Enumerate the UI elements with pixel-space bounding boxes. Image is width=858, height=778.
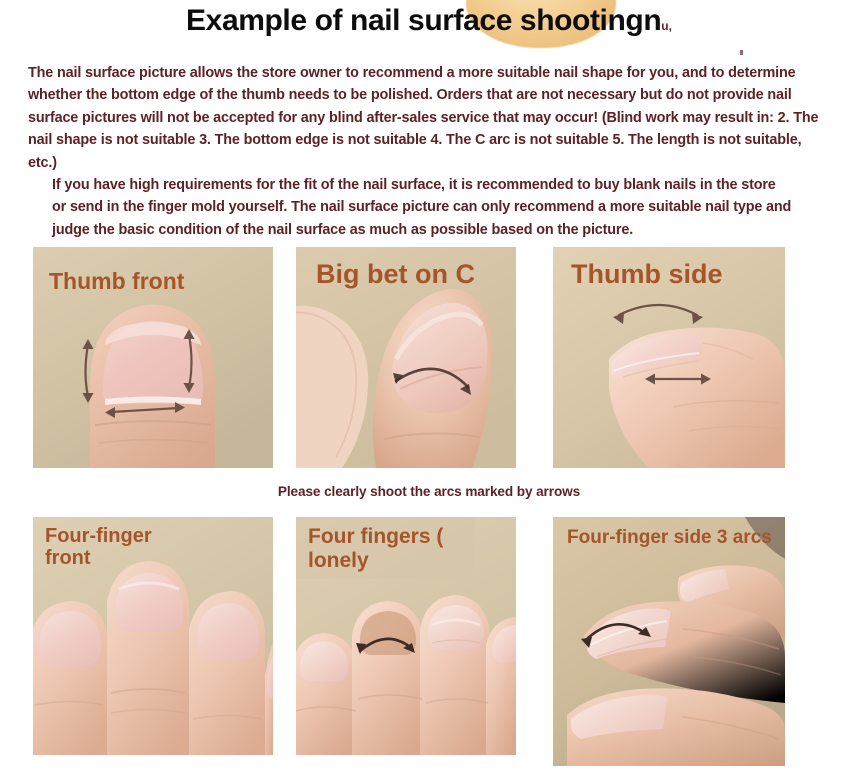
panel-label-big-bet-on-c: Big bet on C [316,259,475,289]
page-title-text: Example of nail surface shootingn [186,4,661,37]
intro-paragraph-1: The nail surface picture allows the stor… [28,62,828,174]
page-title-suffix: u, [661,19,672,33]
panel-label-four-finger-side-3-arcs: Four-finger side 3 arcs [567,527,772,548]
stray-artifact-mark [740,50,743,55]
photo-panel-big-bet-on-c: Big bet on C [296,247,516,468]
photo-panel-four-finger-side-3-arcs: Four-finger side 3 arcs [553,517,785,766]
mid-caption: Please clearly shoot the arcs marked by … [0,484,858,499]
panel-label-four-fingers-lonely: Four fingers ( lonely [308,525,478,572]
photo-panel-thumb-side: Thumb side [553,247,785,468]
photo-panel-thumb-front: Thumb front [33,247,273,468]
panel-label-four-finger-front: Four-finger front [45,525,185,570]
title-area: Example of nail surface shootingnu, [0,0,858,58]
panel-label-thumb-front: Thumb front [49,269,184,295]
photo-panel-four-finger-front: Four-finger front [33,517,273,755]
photo-panel-four-fingers-lonely: Four fingers ( lonely [296,517,516,755]
four-finger-side-3-arcs-photo [553,517,785,766]
panel-label-thumb-side: Thumb side [571,259,723,289]
intro-paragraph-2: If you have high requirements for the fi… [52,174,792,241]
page-title: Example of nail surface shootingnu, [0,4,858,38]
